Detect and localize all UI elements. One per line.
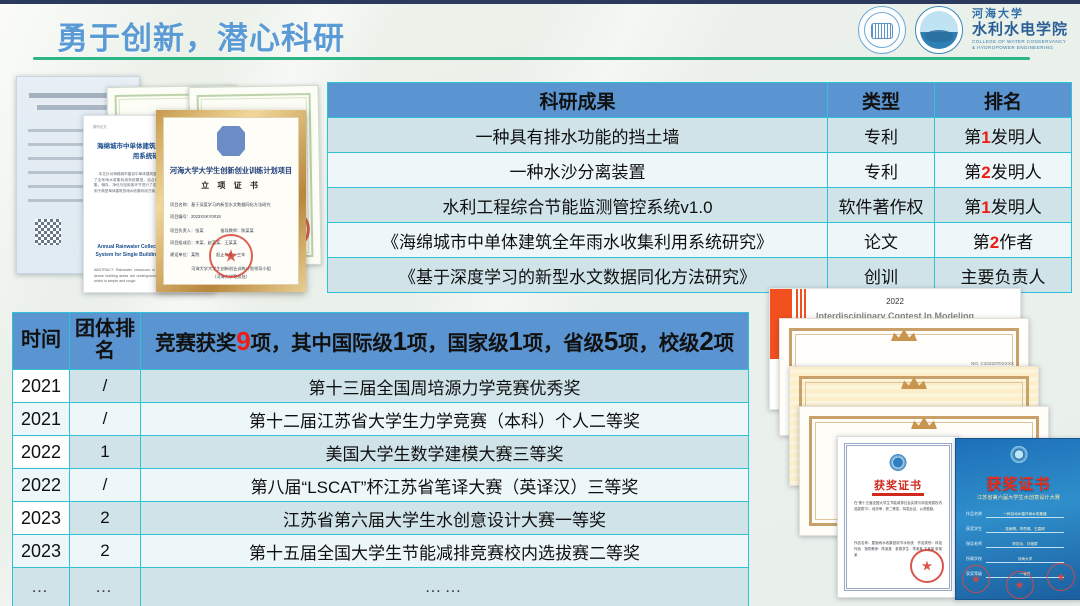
- table-row: 2023 2 江苏省第六届大学生水创意设计大赛一等奖: [13, 502, 749, 535]
- cell-achievement: 一种水沙分离装置: [328, 153, 828, 188]
- red-stamp-icon: [962, 565, 990, 593]
- cell-achievement: 《基于深度学习的新型水文数据同化方法研究》: [328, 258, 828, 293]
- table-row: 2023 2 第十五届全国大学生节能减排竞赛校内选拔赛二等奖: [13, 535, 749, 568]
- table-row: 2021 / 第十二届江苏省大学生力学竞赛（本科）个人二等奖: [13, 403, 749, 436]
- project-cert-line2: 立 项 证 书: [156, 180, 306, 191]
- cell-achievement: 《海绵城市中单体建筑全年雨水收集利用系统研究》: [328, 223, 828, 258]
- table-header-row: 时间 团体排名 竞赛获奖9项，其中国际级1项，国家级1项，省级5项，校级2项: [13, 313, 749, 370]
- slide-canvas: 勇于创新，潜心科研 河海大学 水利水电学院 COLLEGE OF WATER C…: [0, 0, 1080, 606]
- university-seal-icon: [858, 6, 906, 54]
- table-row: 《海绵城市中单体建筑全年雨水收集利用系统研究》 论文 第2作者: [328, 223, 1072, 258]
- cell-award: 第十五届全国大学生节能减排竞赛校内选拔赛二等奖: [141, 535, 749, 568]
- table-row: 水利工程综合节能监测管控系统v1.0 软件著作权 第1发明人: [328, 188, 1072, 223]
- award-collage: 2022 Interdisciplinary Contest In Modeli…: [757, 288, 1080, 606]
- competition-awards-table: 时间 团体排名 竞赛获奖9项，其中国际级1项，国家级1项，省级5项，校级2项 2…: [12, 312, 749, 606]
- cell-type: 论文: [828, 223, 935, 258]
- cell-year: 2021: [13, 403, 70, 436]
- red-stamp-icon: [910, 549, 944, 583]
- cell-achievement: 一种具有排水功能的挡土墙: [328, 118, 828, 153]
- red-stamp-icon: [209, 234, 253, 278]
- project-approval-certificate: 河海大学大学生创新创业训练计划项目 立 项 证 书 项目名称：基于深度学习的新型…: [156, 110, 306, 292]
- cell-type: 专利: [828, 118, 935, 153]
- white-cert-title: 获奖证书: [838, 477, 958, 493]
- modeling-cert-year: 2022: [770, 297, 1020, 306]
- cell-year: 2023: [13, 535, 70, 568]
- cell-rank: /: [70, 469, 141, 502]
- title-divider: [33, 57, 1030, 60]
- contest-logo-icon: [1010, 446, 1027, 463]
- red-stamp-icon: [1006, 571, 1034, 599]
- research-achievements-table: 科研成果 类型 排名 一种具有排水功能的挡土墙 专利 第1发明人 一种水沙分离装…: [327, 82, 1072, 293]
- cell-rank: …: [70, 568, 141, 606]
- table-row: 2021 / 第十三届全国周培源力学竞赛优秀奖: [13, 370, 749, 403]
- cell-rank: /: [70, 403, 141, 436]
- cell-award: 第十三届全国周培源力学竞赛优秀奖: [141, 370, 749, 403]
- wordmark-line1: 河海大学: [972, 9, 1068, 20]
- blue-cert-subtitle: 江苏省第六届大学生水创意设计大赛: [956, 494, 1080, 501]
- cell-year: 2022: [13, 469, 70, 502]
- cell-type: 软件著作权: [828, 188, 935, 223]
- wordmark-line2: 水利水电学院: [972, 22, 1068, 37]
- cell-year: …: [13, 568, 70, 606]
- cell-year: 2021: [13, 370, 70, 403]
- cell-rank: 第1发明人: [935, 188, 1072, 223]
- col-header-rank: 排名: [935, 83, 1072, 118]
- white-award-certificate: 获奖证书 在“第十五届全国大学生节能减排社会实践与科技竞赛校内选拔赛”中，经评审…: [837, 436, 959, 598]
- cell-award: 第八届“LSCAT”杯江苏省笔译大赛（英译汉）三等奖: [141, 469, 749, 502]
- blue-award-certificate: 获奖证书 江苏省第六届大学生水创意设计大赛 作品名称一种自动水循环雨水收集器 获…: [955, 438, 1080, 600]
- table-row: 2022 1 美国大学生数学建模大赛三等奖: [13, 436, 749, 469]
- table-row: 一种水沙分离装置 专利 第2发明人: [328, 153, 1072, 188]
- col-header-type: 类型: [828, 83, 935, 118]
- cell-rank: /: [70, 370, 141, 403]
- cell-award: 第十二届江苏省大学生力学竞赛（本科）个人二等奖: [141, 403, 749, 436]
- certificate-collage: 证 书 证书 期刊论文 海绵城市中单体建筑全年雨水收集利用系统研究 本文针对海绵…: [8, 70, 326, 292]
- college-emblem-icon: [915, 6, 963, 54]
- cell-award: 江苏省第六届大学生水创意设计大赛一等奖: [141, 502, 749, 535]
- contest-emblem-icon: [890, 454, 907, 471]
- col-header-time: 时间: [13, 313, 70, 370]
- red-stamp-icon: [1047, 563, 1075, 591]
- white-cert-body: 在“第十五届全国大学生节能减排社会实践与科技竞赛校内选拔赛”中，经评审，获二等奖…: [854, 501, 942, 513]
- branding-logos: 河海大学 水利水电学院 COLLEGE OF WATER CONSERVANCY…: [858, 6, 1068, 54]
- cell-achievement: 水利工程综合节能监测管控系统v1.0: [328, 188, 828, 223]
- cell-rank: 第1发明人: [935, 118, 1072, 153]
- cell-rank: 第2发明人: [935, 153, 1072, 188]
- col-header-achievement: 科研成果: [328, 83, 828, 118]
- table-row: 2022 / 第八届“LSCAT”杯江苏省笔译大赛（英译汉）三等奖: [13, 469, 749, 502]
- university-emblem-icon: [217, 126, 245, 156]
- wordmark: 河海大学 水利水电学院 COLLEGE OF WATER CONSERVANCY…: [972, 9, 1068, 50]
- cell-rank: 1: [70, 436, 141, 469]
- table-row: … … ……: [13, 568, 749, 606]
- qr-code-icon: [35, 219, 61, 245]
- top-accent-bar: [0, 0, 1080, 4]
- cell-award: ……: [141, 568, 749, 606]
- competition-summary: 竞赛获奖9项，其中国际级1项，国家级1项，省级5项，校级2项: [141, 313, 749, 370]
- wordmark-line4: & HYDROPOWER ENGINEERING: [972, 46, 1068, 51]
- cell-year: 2023: [13, 502, 70, 535]
- blue-cert-title: 获奖证书: [956, 473, 1080, 494]
- cell-type: 专利: [828, 153, 935, 188]
- page-title: 勇于创新，潜心科研: [57, 13, 345, 58]
- table-header-row: 科研成果 类型 排名: [328, 83, 1072, 118]
- table-row: 一种具有排水功能的挡土墙 专利 第1发明人: [328, 118, 1072, 153]
- cell-rank: 第2作者: [935, 223, 1072, 258]
- cell-rank: 2: [70, 535, 141, 568]
- cell-award: 美国大学生数学建模大赛三等奖: [141, 436, 749, 469]
- project-cert-line1: 河海大学大学生创新创业训练计划项目: [156, 166, 306, 176]
- cell-rank: 2: [70, 502, 141, 535]
- cell-year: 2022: [13, 436, 70, 469]
- col-header-group-rank: 团体排名: [70, 313, 141, 370]
